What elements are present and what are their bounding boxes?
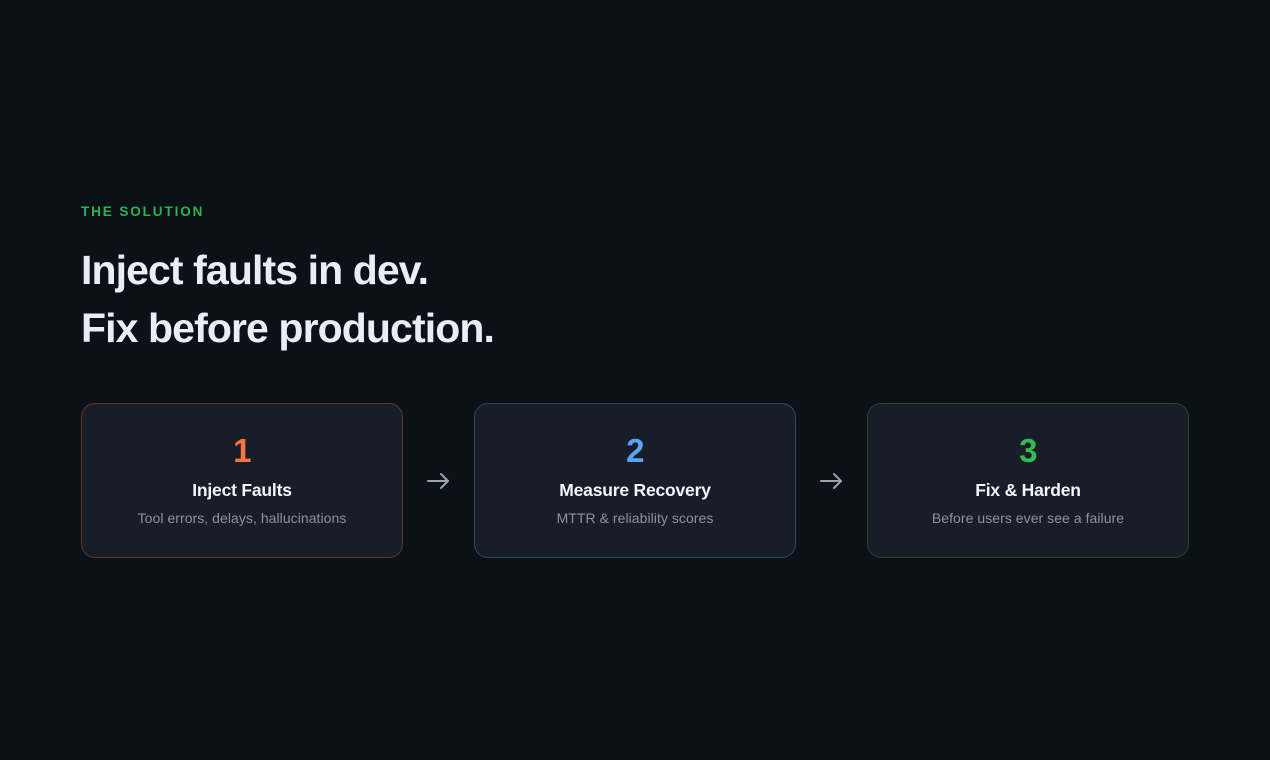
step-title-1: Inject Faults [192,479,292,501]
step-title-2: Measure Recovery [559,479,710,501]
headline-line-2: Fix before production. [81,299,494,357]
section-headline: Inject faults in dev. Fix before product… [81,241,494,357]
step-number-3: 3 [1019,433,1037,469]
headline-line-1: Inject faults in dev. [81,241,494,299]
arrow-right-icon [422,464,456,498]
step-title-3: Fix & Harden [975,479,1081,501]
step-description-3: Before users ever see a failure [932,508,1124,528]
section-eyebrow: THE SOLUTION [81,203,204,221]
step-card-1: 1 Inject Faults Tool errors, delays, hal… [81,403,403,558]
step-description-2: MTTR & reliability scores [557,508,714,528]
step-card-3: 3 Fix & Harden Before users ever see a f… [867,403,1189,558]
step-number-1: 1 [233,433,251,469]
steps-row: 1 Inject Faults Tool errors, delays, hal… [81,402,1189,559]
step-card-2: 2 Measure Recovery MTTR & reliability sc… [474,403,796,558]
step-number-2: 2 [626,433,644,469]
step-description-1: Tool errors, delays, hallucinations [138,508,347,528]
arrow-right-icon [815,464,849,498]
solution-section: THE SOLUTION Inject faults in dev. Fix b… [0,0,1270,760]
